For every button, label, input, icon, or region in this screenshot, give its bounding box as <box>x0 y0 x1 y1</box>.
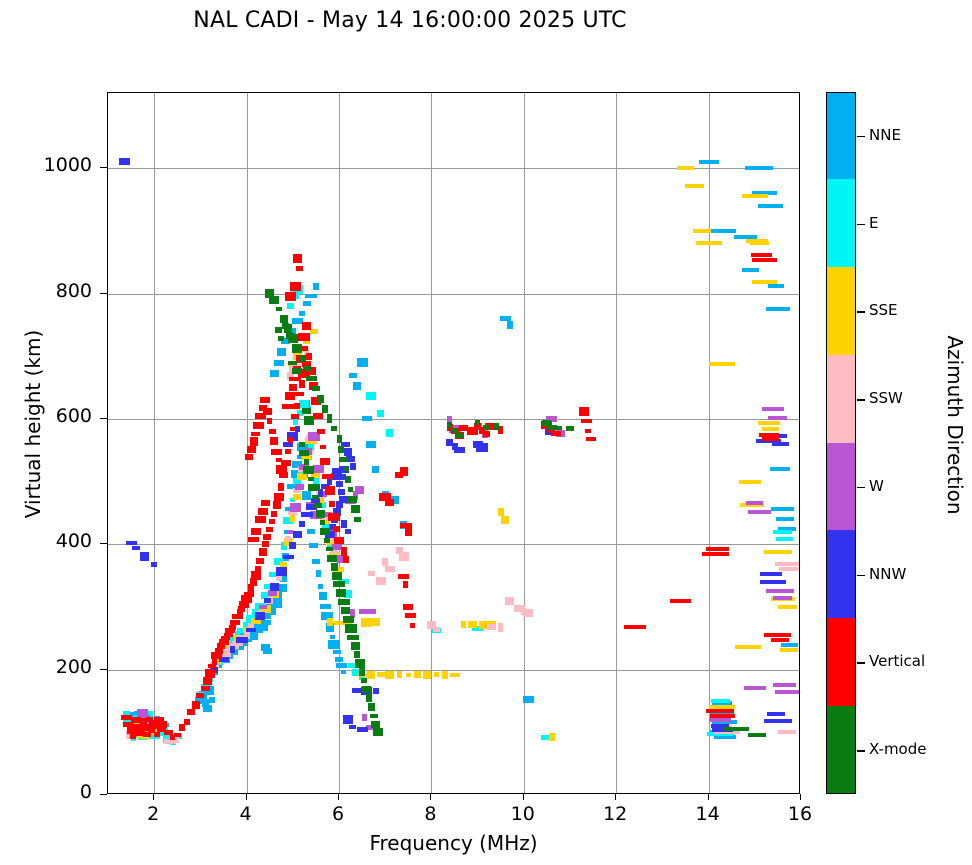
gridline-vertical <box>339 93 340 793</box>
echo-mark-sse <box>501 516 509 524</box>
echo-mark-nne <box>768 284 784 288</box>
echo-mark-e <box>299 400 309 408</box>
echo-mark-vertical <box>248 537 259 542</box>
echo-mark-vertical <box>289 377 301 381</box>
echo-mark-x-mode <box>303 466 314 474</box>
echo-mark-nne <box>313 283 319 290</box>
echo-mark-sse <box>709 362 735 366</box>
echo-mark-vertical <box>260 397 270 403</box>
colorbar-label-x-mode: X-mode <box>869 740 926 758</box>
echo-mark-w <box>355 486 364 494</box>
echo-mark-vertical <box>706 547 729 551</box>
echo-mark-vertical <box>299 380 305 388</box>
echo-mark-ssw <box>505 597 514 605</box>
echo-mark-nne <box>305 294 317 298</box>
echo-mark-sse <box>385 671 394 679</box>
echo-mark-sse <box>423 671 431 679</box>
gridline-vertical <box>709 93 710 793</box>
x-axis-tick <box>708 794 709 800</box>
echo-mark-x-mode <box>302 408 311 414</box>
echo-mark-ssw <box>498 623 503 632</box>
echo-mark-x-mode <box>554 426 562 430</box>
echo-mark-vertical <box>302 322 311 330</box>
echo-mark-vertical <box>263 408 272 415</box>
colorbar-label-nne: NNE <box>869 126 901 144</box>
echo-mark-nne <box>274 360 284 366</box>
gridline-horizontal <box>108 294 799 295</box>
echo-mark-nne <box>303 301 311 306</box>
echo-mark-vertical <box>205 669 215 678</box>
echo-mark-sse <box>677 166 694 170</box>
echo-mark-vertical <box>751 253 772 257</box>
echo-mark-x-mode <box>314 503 322 508</box>
echo-mark-vertical <box>267 418 272 424</box>
echo-mark-vertical <box>551 431 561 436</box>
echo-mark-vertical <box>483 431 490 437</box>
echo-mark-x-mode <box>345 476 351 483</box>
echo-mark-sse <box>442 671 448 679</box>
gridline-horizontal <box>108 419 799 420</box>
echo-mark-x-mode <box>299 355 306 362</box>
y-axis-tick-label: 600 <box>0 405 92 427</box>
y-axis-tick-label: 0 <box>0 781 92 803</box>
ionogram-plot-area <box>107 92 800 794</box>
x-axis-tick <box>523 794 524 800</box>
echo-mark-x-mode <box>282 323 289 329</box>
echo-mark-vertical <box>289 384 297 391</box>
echo-mark-nnw <box>343 715 353 724</box>
echo-mark-nnw <box>289 542 296 549</box>
echo-mark-nnw <box>230 646 235 653</box>
gridline-vertical <box>247 93 248 793</box>
colorbar-segment-x-mode <box>827 706 855 794</box>
echo-mark-nne <box>349 373 357 378</box>
echo-mark-vertical <box>288 437 293 443</box>
echo-mark-nnw <box>140 552 149 561</box>
y-axis-tick-label: 200 <box>0 656 92 678</box>
echo-mark-nne <box>263 620 271 625</box>
echo-mark-vertical <box>154 732 160 737</box>
x-axis-tick-label: 14 <box>678 803 738 825</box>
echo-mark-ssw <box>376 577 386 585</box>
echo-mark-vertical <box>322 474 333 479</box>
echo-mark-nne <box>357 358 368 367</box>
echo-mark-w <box>366 609 376 614</box>
echo-mark-x-mode <box>343 467 349 471</box>
y-axis-tick-label: 1000 <box>0 154 92 176</box>
echo-mark-vertical <box>579 407 589 416</box>
colorbar-tick <box>857 311 865 312</box>
colorbar-label-nnw: NNW <box>869 565 906 583</box>
echo-mark-vertical <box>159 721 167 728</box>
echo-mark-vertical <box>274 493 284 501</box>
echo-mark-w <box>359 609 366 614</box>
echo-mark-nnw <box>255 612 265 620</box>
echo-mark-x-mode <box>348 487 353 492</box>
echo-mark-vertical <box>328 513 340 521</box>
echo-mark-w <box>709 718 731 722</box>
echo-mark-nne <box>699 160 719 164</box>
echo-mark-nnw <box>301 512 313 517</box>
x-axis-tick-label: 6 <box>308 803 368 825</box>
echo-mark-nnw <box>767 712 785 716</box>
echo-mark-vertical <box>624 625 646 629</box>
echo-mark-nne <box>771 507 794 511</box>
echo-mark-w <box>259 605 267 609</box>
echo-mark-vertical <box>385 499 394 506</box>
x-axis-tick-label: 4 <box>216 803 276 825</box>
echo-mark-x-mode <box>371 721 380 728</box>
echo-mark-x-mode <box>354 651 360 658</box>
echo-mark-nnw <box>454 447 465 453</box>
echo-mark-vertical <box>334 537 344 544</box>
echo-mark-nne <box>263 648 272 654</box>
gridline-vertical <box>524 93 525 793</box>
colorbar-segment-ssw <box>827 355 855 444</box>
echo-mark-sse <box>361 618 372 627</box>
colorbar-title: Azimuth Direction <box>943 265 967 585</box>
echo-mark-x-mode <box>275 327 282 333</box>
echo-mark-x-mode <box>493 423 499 430</box>
echo-mark-x-mode <box>288 361 297 365</box>
echo-mark-w <box>290 503 301 512</box>
colorbar-label-ssw: SSW <box>869 389 903 407</box>
echo-mark-x-mode <box>322 405 328 413</box>
echo-mark-vertical <box>271 449 282 455</box>
echo-mark-vertical <box>581 419 592 423</box>
echo-mark-sse <box>735 645 761 649</box>
echo-mark-x-mode <box>362 686 371 693</box>
echo-mark-nne <box>523 696 534 703</box>
echo-mark-nnw <box>270 583 279 591</box>
echo-mark-nnw <box>151 562 157 567</box>
echo-mark-w <box>744 686 766 690</box>
echo-mark-nnw <box>357 727 368 732</box>
echo-mark-x-mode <box>337 435 342 443</box>
echo-mark-nnw <box>349 725 356 729</box>
echo-mark-vertical <box>585 429 591 433</box>
echo-mark-nne <box>770 467 790 471</box>
echo-mark-vertical <box>313 413 323 419</box>
echo-mark-x-mode <box>326 547 333 551</box>
echo-mark-e <box>776 537 793 541</box>
echo-mark-w <box>773 596 792 600</box>
echo-mark-sse <box>693 229 711 233</box>
echo-mark-nne <box>766 307 790 311</box>
echo-mark-w <box>746 501 763 505</box>
echo-mark-nne <box>299 311 305 316</box>
echo-mark-x-mode <box>280 315 288 323</box>
colorbar-segment-e <box>827 179 855 268</box>
colorbar-segment-nnw <box>827 530 855 619</box>
echo-mark-vertical <box>291 414 299 419</box>
echo-mark-x-mode <box>361 678 367 683</box>
y-axis-tick <box>100 794 107 795</box>
colorbar-tick <box>857 399 865 400</box>
echo-mark-vertical <box>262 541 269 547</box>
echo-mark-vertical <box>278 483 284 491</box>
echo-mark-sse <box>742 194 768 198</box>
echo-mark-sse <box>758 421 780 425</box>
echo-mark-e <box>711 699 730 703</box>
echo-mark-ssw <box>778 730 796 734</box>
y-axis-tick <box>100 669 107 670</box>
echo-mark-x-mode <box>336 589 346 597</box>
echo-mark-vertical <box>403 581 408 588</box>
echo-mark-vertical <box>203 677 212 685</box>
echo-mark-e <box>377 410 384 417</box>
x-axis-tick <box>338 794 339 800</box>
echo-mark-x-mode <box>456 433 463 438</box>
echo-mark-sse <box>397 671 402 678</box>
echo-mark-vertical <box>706 709 734 713</box>
echo-mark-vertical <box>256 558 264 564</box>
echo-mark-e <box>773 530 792 534</box>
echo-mark-vertical <box>710 714 735 718</box>
echo-mark-ssw <box>775 562 799 566</box>
echo-mark-x-mode <box>286 333 294 339</box>
echo-mark-ssw <box>368 571 375 576</box>
echo-mark-x-mode <box>483 425 490 430</box>
echo-mark-nnw <box>126 541 137 545</box>
echo-mark-nne <box>709 229 736 233</box>
echo-mark-nne <box>353 382 361 390</box>
echo-mark-x-mode <box>366 694 372 702</box>
echo-mark-w <box>768 416 787 420</box>
echo-mark-sse <box>372 618 380 626</box>
echo-mark-ssw <box>779 567 799 571</box>
echo-mark-x-mode <box>373 728 383 736</box>
echo-mark-nnw <box>283 555 294 559</box>
echo-mark-vertical <box>400 467 408 476</box>
colorbar-tick <box>857 487 865 488</box>
echo-mark-x-mode <box>370 714 378 718</box>
y-axis-tick <box>100 293 107 294</box>
echo-mark-sse <box>479 621 485 629</box>
echo-mark-vertical <box>306 353 312 360</box>
echo-mark-nnw <box>299 521 305 527</box>
colorbar-segment-sse <box>827 267 855 356</box>
echo-mark-vertical <box>317 429 325 434</box>
echo-mark-sse <box>696 241 722 245</box>
echo-mark-w <box>295 484 304 490</box>
echo-mark-nne <box>318 584 323 589</box>
echo-mark-nne <box>272 600 282 608</box>
echo-mark-x-mode <box>351 505 360 513</box>
echo-mark-nne <box>328 640 340 649</box>
echo-mark-x-mode <box>724 727 749 731</box>
echo-mark-x-mode <box>331 563 338 571</box>
echo-mark-vertical <box>333 526 340 532</box>
y-axis-tick <box>100 418 107 419</box>
echo-mark-x-mode <box>338 599 350 605</box>
echo-mark-vertical <box>762 437 779 441</box>
echo-mark-sse <box>290 514 295 522</box>
echo-mark-x-mode <box>299 442 305 447</box>
echo-mark-vertical <box>343 556 349 563</box>
echo-mark-nnw <box>341 520 347 528</box>
echo-mark-x-mode <box>303 366 311 371</box>
echo-mark-sse <box>414 671 421 678</box>
echo-mark-x-mode <box>748 733 766 737</box>
x-axis-tick-label: 16 <box>770 803 830 825</box>
x-axis-tick <box>246 794 247 800</box>
echo-mark-vertical <box>192 701 200 709</box>
echo-mark-x-mode <box>332 572 342 580</box>
echo-mark-nne <box>257 624 268 631</box>
echo-mark-vertical <box>293 254 302 263</box>
echo-mark-nne <box>335 657 343 662</box>
echo-mark-sse <box>780 648 798 652</box>
echo-mark-vertical <box>269 519 275 524</box>
echo-mark-sse <box>461 621 466 628</box>
x-axis-tick <box>430 794 431 800</box>
echo-mark-vertical <box>285 449 291 454</box>
echo-mark-vertical <box>403 604 413 610</box>
echo-mark-nnw <box>336 481 343 487</box>
y-axis-tick <box>100 543 107 544</box>
echo-mark-vertical <box>410 623 415 628</box>
echo-mark-x-mode <box>292 344 302 353</box>
echo-mark-vertical <box>282 404 294 409</box>
echo-mark-vertical <box>276 458 282 462</box>
echo-mark-x-mode <box>304 416 314 425</box>
echo-mark-vertical <box>253 422 264 429</box>
echo-mark-nne <box>330 635 335 639</box>
echo-mark-nnw <box>276 567 287 576</box>
echo-mark-sse <box>450 673 460 677</box>
echo-mark-vertical <box>250 437 258 446</box>
echo-mark-vertical <box>201 686 210 691</box>
y-axis-tick <box>100 167 107 168</box>
gridline-horizontal <box>108 544 799 545</box>
echo-mark-nne <box>309 543 318 548</box>
echo-mark-vertical <box>266 527 273 532</box>
colorbar-label-vertical: Vertical <box>869 652 925 670</box>
x-axis-tick-label: 10 <box>493 803 553 825</box>
echo-mark-vertical <box>245 454 253 460</box>
echo-mark-sse <box>549 733 555 741</box>
echo-mark-nnw <box>336 501 343 508</box>
echo-mark-vertical <box>269 429 276 434</box>
page-title: NAL CADI - May 14 16:00:00 2025 UTC <box>0 8 820 33</box>
echo-mark-x-mode <box>308 484 320 491</box>
echo-mark-vertical <box>764 633 791 637</box>
echo-mark-x-mode <box>269 296 279 304</box>
echo-mark-x-mode <box>368 703 375 711</box>
echo-mark-sse <box>750 241 769 245</box>
colorbar-tick <box>857 224 865 225</box>
echo-mark-nne <box>372 466 379 473</box>
echo-mark-vertical <box>251 528 261 535</box>
echo-mark-vertical <box>276 465 287 474</box>
echo-mark-e <box>386 429 393 437</box>
echo-mark-vertical <box>184 719 190 725</box>
echo-mark-sse <box>293 494 301 500</box>
colorbar-tick <box>857 750 865 751</box>
echo-mark-vertical <box>295 392 304 396</box>
echo-mark-x-mode <box>338 446 344 453</box>
echo-mark-ssw <box>382 558 388 566</box>
y-axis-tick-label: 400 <box>0 530 92 552</box>
echo-mark-nnw <box>344 448 352 456</box>
echo-mark-ssw <box>433 627 440 632</box>
echo-mark-vertical <box>258 508 268 515</box>
echo-mark-sse <box>367 671 375 679</box>
echo-mark-sse <box>327 618 333 626</box>
echo-mark-sse <box>778 605 797 609</box>
x-axis-tick-label: 8 <box>400 803 460 825</box>
echo-mark-x-mode <box>475 420 480 425</box>
echo-mark-x-mode <box>341 607 350 614</box>
echo-mark-x-mode <box>306 376 317 381</box>
echo-mark-vertical <box>298 333 310 341</box>
echo-mark-x-mode <box>304 459 309 465</box>
echo-mark-nnw <box>236 637 248 643</box>
echo-mark-x-mode <box>566 426 574 431</box>
echo-mark-vertical <box>290 282 301 291</box>
echo-mark-nne <box>320 604 331 609</box>
colorbar-tick <box>857 136 865 137</box>
echo-mark-nne <box>507 321 513 329</box>
echo-mark-sse <box>434 672 439 677</box>
echo-mark-vertical <box>325 486 335 495</box>
echo-mark-vertical <box>398 574 409 579</box>
echo-mark-x-mode <box>348 496 357 503</box>
gridline-vertical <box>616 93 617 793</box>
echo-mark-nnw <box>338 489 345 495</box>
colorbar-label-e: E <box>869 214 878 232</box>
echo-mark-ssw <box>487 624 495 630</box>
echo-mark-x-mode <box>327 414 332 423</box>
echo-mark-vertical <box>329 501 335 507</box>
colorbar-tick <box>857 575 865 576</box>
echo-mark-nnw <box>373 688 379 694</box>
echo-mark-w <box>748 510 771 514</box>
echo-mark-w <box>766 589 794 593</box>
echo-mark-vertical <box>244 592 254 597</box>
echo-mark-ssw <box>399 552 409 561</box>
echo-mark-sse <box>739 480 761 484</box>
echo-mark-vertical <box>196 693 204 698</box>
x-axis-tick <box>153 794 154 800</box>
echo-mark-vertical <box>320 458 330 465</box>
echo-mark-nne <box>203 705 212 712</box>
echo-mark-x-mode <box>345 624 357 633</box>
echo-mark-nnw <box>764 719 792 723</box>
echo-mark-nne <box>714 735 736 739</box>
echo-mark-vertical <box>259 548 267 556</box>
echo-mark-vertical <box>405 528 412 536</box>
echo-mark-x-mode <box>316 510 325 518</box>
echo-mark-nne <box>336 663 347 668</box>
echo-mark-nne <box>776 517 794 521</box>
echo-mark-vertical <box>285 292 296 301</box>
echo-mark-vertical <box>270 437 278 445</box>
echo-mark-vertical <box>320 445 326 449</box>
echo-mark-nnw <box>246 628 256 632</box>
x-axis-tick-label: 2 <box>123 803 183 825</box>
echo-mark-nnw <box>350 463 356 470</box>
echo-mark-vertical <box>271 511 277 517</box>
echo-mark-x-mode <box>347 635 359 640</box>
echo-mark-x-mode <box>308 477 314 481</box>
echo-mark-vertical <box>702 552 729 556</box>
echo-mark-x-mode <box>331 426 337 431</box>
colorbar-label-sse: SSE <box>869 301 898 319</box>
echo-mark-nne <box>316 570 321 577</box>
echo-mark-vertical <box>405 613 416 618</box>
